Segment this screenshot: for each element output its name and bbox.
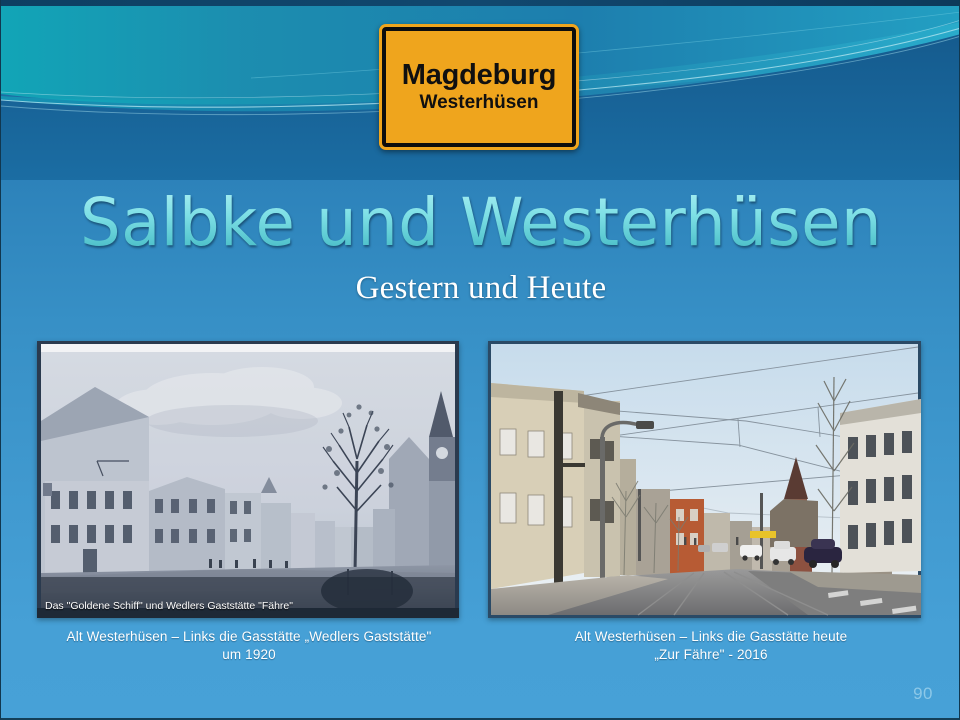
photo-historic[interactable]: Das "Goldene Schiff" und Wedlers Gaststä… (37, 341, 459, 618)
photo-modern[interactable] (488, 341, 921, 618)
town-sign-city-label: Magdeburg (402, 60, 556, 90)
town-sign-inner-border: Magdeburg Westerhüsen (382, 27, 576, 147)
modern-photo-graphic (488, 341, 921, 618)
slide-number: 90 (913, 684, 933, 704)
caption-modern-line1: Alt Westerhüsen – Links die Gasstätte he… (481, 628, 941, 646)
presentation-slide: Magdeburg Westerhüsen Salbke und Westerh… (0, 0, 960, 720)
slide-subtitle: Gestern und Heute (1, 270, 960, 307)
caption-historic: Alt Westerhüsen – Links die Gasstätte „W… (19, 628, 479, 664)
slide-title: Salbke und Westerhüsen (15, 188, 946, 257)
caption-modern: Alt Westerhüsen – Links die Gasstätte he… (481, 628, 941, 664)
town-sign-district-label: Westerhüsen (420, 93, 539, 114)
caption-historic-line1: Alt Westerhüsen – Links die Gasstätte „W… (19, 628, 479, 646)
historic-photo-graphic (37, 341, 459, 618)
town-entry-sign: Magdeburg Westerhüsen (379, 24, 579, 150)
caption-modern-line2: „Zur Fähre" - 2016 (481, 646, 941, 664)
caption-historic-line2: um 1920 (19, 646, 479, 664)
